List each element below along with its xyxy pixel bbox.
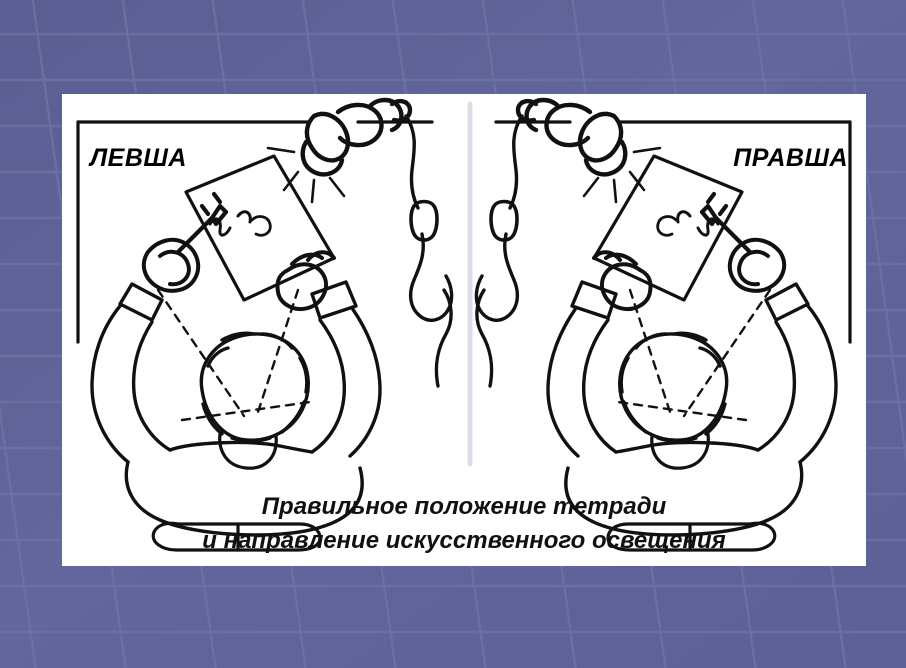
right-gaze-line-icon <box>618 290 770 420</box>
left-lamp-icon <box>303 100 410 174</box>
right-writing-hand-icon <box>730 240 784 291</box>
illustration-panel: ЛЕВША ПРАВША Правильное положение тетрад… <box>62 94 866 566</box>
right-page-mark-icon <box>658 217 676 236</box>
right-head-icon <box>620 333 727 441</box>
left-cord-switch-icon <box>411 202 437 241</box>
caption-line-2: и направление искусственного освещения <box>62 524 866 558</box>
right-lamp-icon <box>518 100 625 174</box>
slide-canvas: ЛЕВША ПРАВША Правильное положение тетрад… <box>0 0 906 668</box>
right-light-rays-icon <box>584 148 660 202</box>
left-head-icon <box>201 333 308 441</box>
left-power-cord-icon <box>406 116 452 386</box>
label-left-handed: ЛЕВША <box>90 144 187 173</box>
right-cord-switch-icon <box>491 202 517 241</box>
left-gaze-line-icon <box>158 290 310 420</box>
caption-line-1: Правильное положение тетради <box>62 490 866 524</box>
left-page-mark-icon <box>252 217 270 236</box>
left-writing-hand-icon <box>144 240 198 291</box>
left-sleeve-cuff-icon <box>120 284 162 320</box>
caption: Правильное положение тетради и направлен… <box>62 490 866 558</box>
left-notebook-icon <box>186 156 334 300</box>
label-right-handed: ПРАВША <box>733 144 848 173</box>
right-power-cord-icon <box>476 116 522 386</box>
right-notebook-icon <box>594 156 742 300</box>
right-sleeve-cuff-icon <box>766 284 808 320</box>
left-light-rays-icon <box>268 148 344 202</box>
